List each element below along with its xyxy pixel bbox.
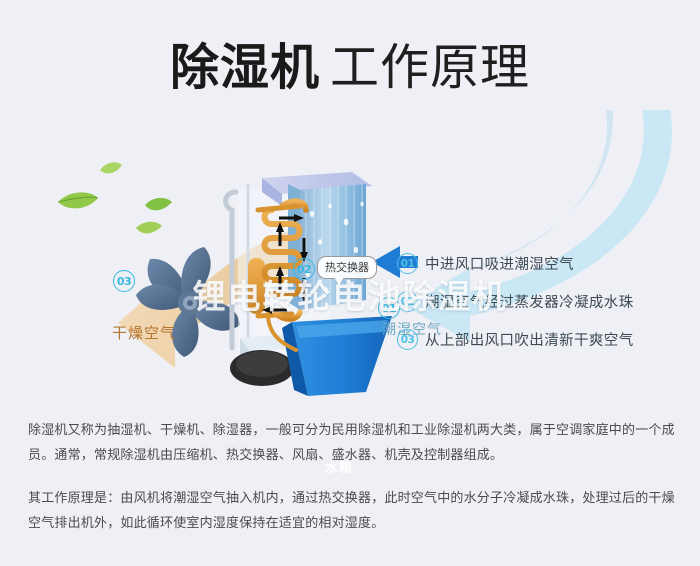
page-title-bold: 除湿机 [170, 39, 320, 96]
list-item: 01 中进风口吸进潮湿空气 [397, 253, 687, 274]
step-number: 02 [397, 291, 418, 312]
label-dry-air: 干燥空气 [112, 322, 176, 343]
callout-tail [334, 277, 344, 286]
badge-heat-exchanger: 02 [293, 258, 315, 280]
callout-heat-exchanger: 热交换器 [317, 256, 377, 279]
list-item: 02 潮湿空气经过蒸发器冷凝成水珠 [397, 291, 687, 312]
page-title-light: 工作原理 [330, 39, 530, 96]
step-number: 03 [397, 329, 418, 350]
steps-list: 01 中进风口吸进潮湿空气 02 潮湿空气经过蒸发器冷凝成水珠 03 从上部出风… [397, 253, 687, 367]
paragraph-2: 其工作原理是：由风机将潮湿空气抽入机内，通过热交换器，此时空气中的水分子冷凝成水… [28, 486, 676, 536]
step-number: 01 [397, 253, 418, 274]
paragraph-1: 除湿机又称为抽湿机、干燥机、除湿器，一般可分为民用除湿机和工业除湿机两大类，属于… [28, 418, 676, 468]
step-text: 中进风口吸进潮湿空气 [425, 253, 574, 274]
step-text: 潮湿空气经过蒸发器冷凝成水珠 [425, 291, 634, 312]
water-tank-icon [282, 316, 392, 396]
list-item: 03 从上部出风口吹出清新干爽空气 [397, 329, 687, 350]
body-copy: 除湿机又称为抽湿机、干燥机、除湿器，一般可分为民用除湿机和工业除湿机两大类，属于… [28, 418, 676, 554]
leaf-icon [58, 162, 172, 233]
step-text: 从上部出风口吹出清新干爽空气 [425, 329, 634, 350]
infographic-page: 除湿机工作原理 [0, 0, 700, 566]
page-title: 除湿机工作原理 [0, 28, 700, 99]
badge-dry-air: 03 [113, 270, 135, 292]
